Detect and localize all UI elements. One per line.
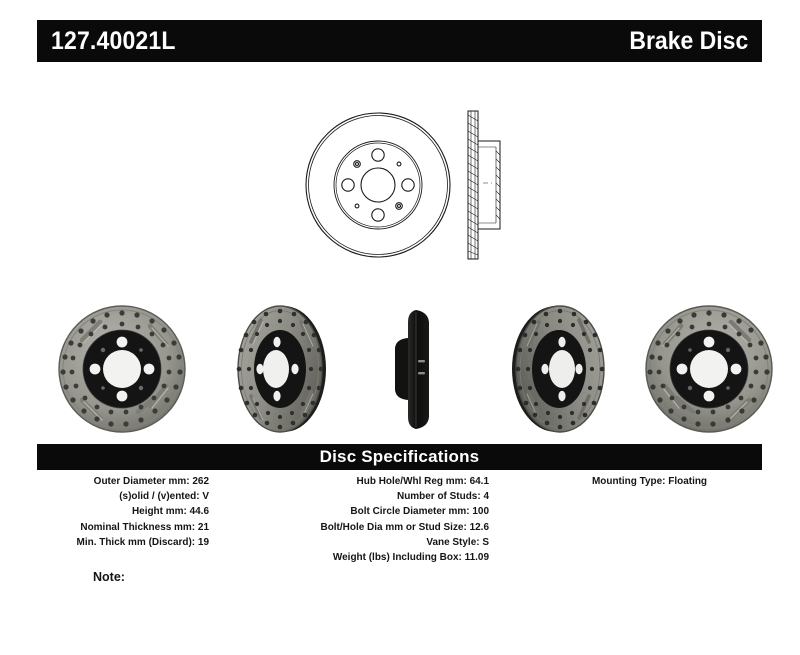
spec-row: Min. Thick mm (Discard): 19 xyxy=(46,535,209,550)
locating-pin-hole xyxy=(396,203,403,210)
center-bore xyxy=(690,350,728,388)
engineering-drawing-svg xyxy=(300,95,520,275)
rotor-photo-front-face-left xyxy=(42,300,202,438)
rotor-cross-section-view xyxy=(468,111,500,259)
locating-pin-hole xyxy=(354,161,361,168)
spec-row: Weight (lbs) Including Box: 11.09 xyxy=(233,550,490,565)
small-hole xyxy=(397,162,401,166)
spec-sheet-page: 127.40021L Brake Disc xyxy=(0,0,800,655)
spec-column-middle: Hub Hole/Whl Reg mm: 64.1 Number of Stud… xyxy=(219,474,489,565)
spec-row: Bolt/Hole Dia mm or Stud Size: 12.6 xyxy=(233,520,490,535)
spec-column-left: Outer Diameter mm: 262 (s)olid / (v)ente… xyxy=(37,474,209,550)
stud-hole xyxy=(372,149,384,161)
small-hole xyxy=(355,204,359,208)
spec-column-right: Mounting Type: Floating xyxy=(537,474,762,489)
rotor-photo-angled-right xyxy=(495,300,625,438)
disc-specifications-columns: Outer Diameter mm: 262 (s)olid / (v)ente… xyxy=(37,474,762,584)
spec-row: Outer Diameter mm: 262 xyxy=(46,474,209,489)
spec-row: Height mm: 44.6 xyxy=(46,504,209,519)
center-bore xyxy=(263,350,289,388)
product-type-label: Brake Disc xyxy=(629,27,748,56)
spec-row: Nominal Thickness mm: 21 xyxy=(46,520,209,535)
center-bore-circle xyxy=(361,168,395,202)
stud-hole xyxy=(402,179,414,191)
rotor-front-face-right-svg xyxy=(629,300,789,438)
rotor-hat-profile xyxy=(395,338,408,400)
center-bore xyxy=(549,350,575,388)
rotor-edge-on-svg xyxy=(382,300,462,438)
spec-row: Hub Hole/Whl Reg mm: 64.1 xyxy=(233,474,490,489)
engineering-drawing xyxy=(300,95,520,275)
rotor-edge-profile xyxy=(408,310,429,429)
spec-row: Number of Studs: 4 xyxy=(233,489,490,504)
spec-row: (s)olid / (v)ented: V xyxy=(46,489,209,504)
spec-row: Vane Style: S xyxy=(233,535,490,550)
spec-row: Bolt Circle Diameter mm: 100 xyxy=(233,504,490,519)
disc-specifications-bar: Disc Specifications xyxy=(37,444,762,470)
rotor-angled-right-svg xyxy=(495,300,625,438)
note-label: Note: xyxy=(93,570,125,584)
rotor-outer-diameter-circle xyxy=(306,113,450,257)
product-photo-row xyxy=(37,300,787,438)
part-number: 127.40021L xyxy=(51,27,176,56)
header-bar: 127.40021L Brake Disc xyxy=(37,20,762,62)
rotor-angled-left-svg xyxy=(215,300,345,438)
spec-row-mounting-type: Mounting Type: Floating xyxy=(543,474,757,489)
rotor-photo-front-face-right xyxy=(629,300,789,438)
rotor-photo-edge-on xyxy=(382,300,462,438)
rotor-photo-angled-left xyxy=(215,300,345,438)
stud-hole xyxy=(342,179,354,191)
center-bore xyxy=(103,350,141,388)
rotor-front-face-left-svg xyxy=(42,300,202,438)
disc-specifications-title: Disc Specifications xyxy=(37,444,762,470)
stud-hole xyxy=(372,209,384,221)
